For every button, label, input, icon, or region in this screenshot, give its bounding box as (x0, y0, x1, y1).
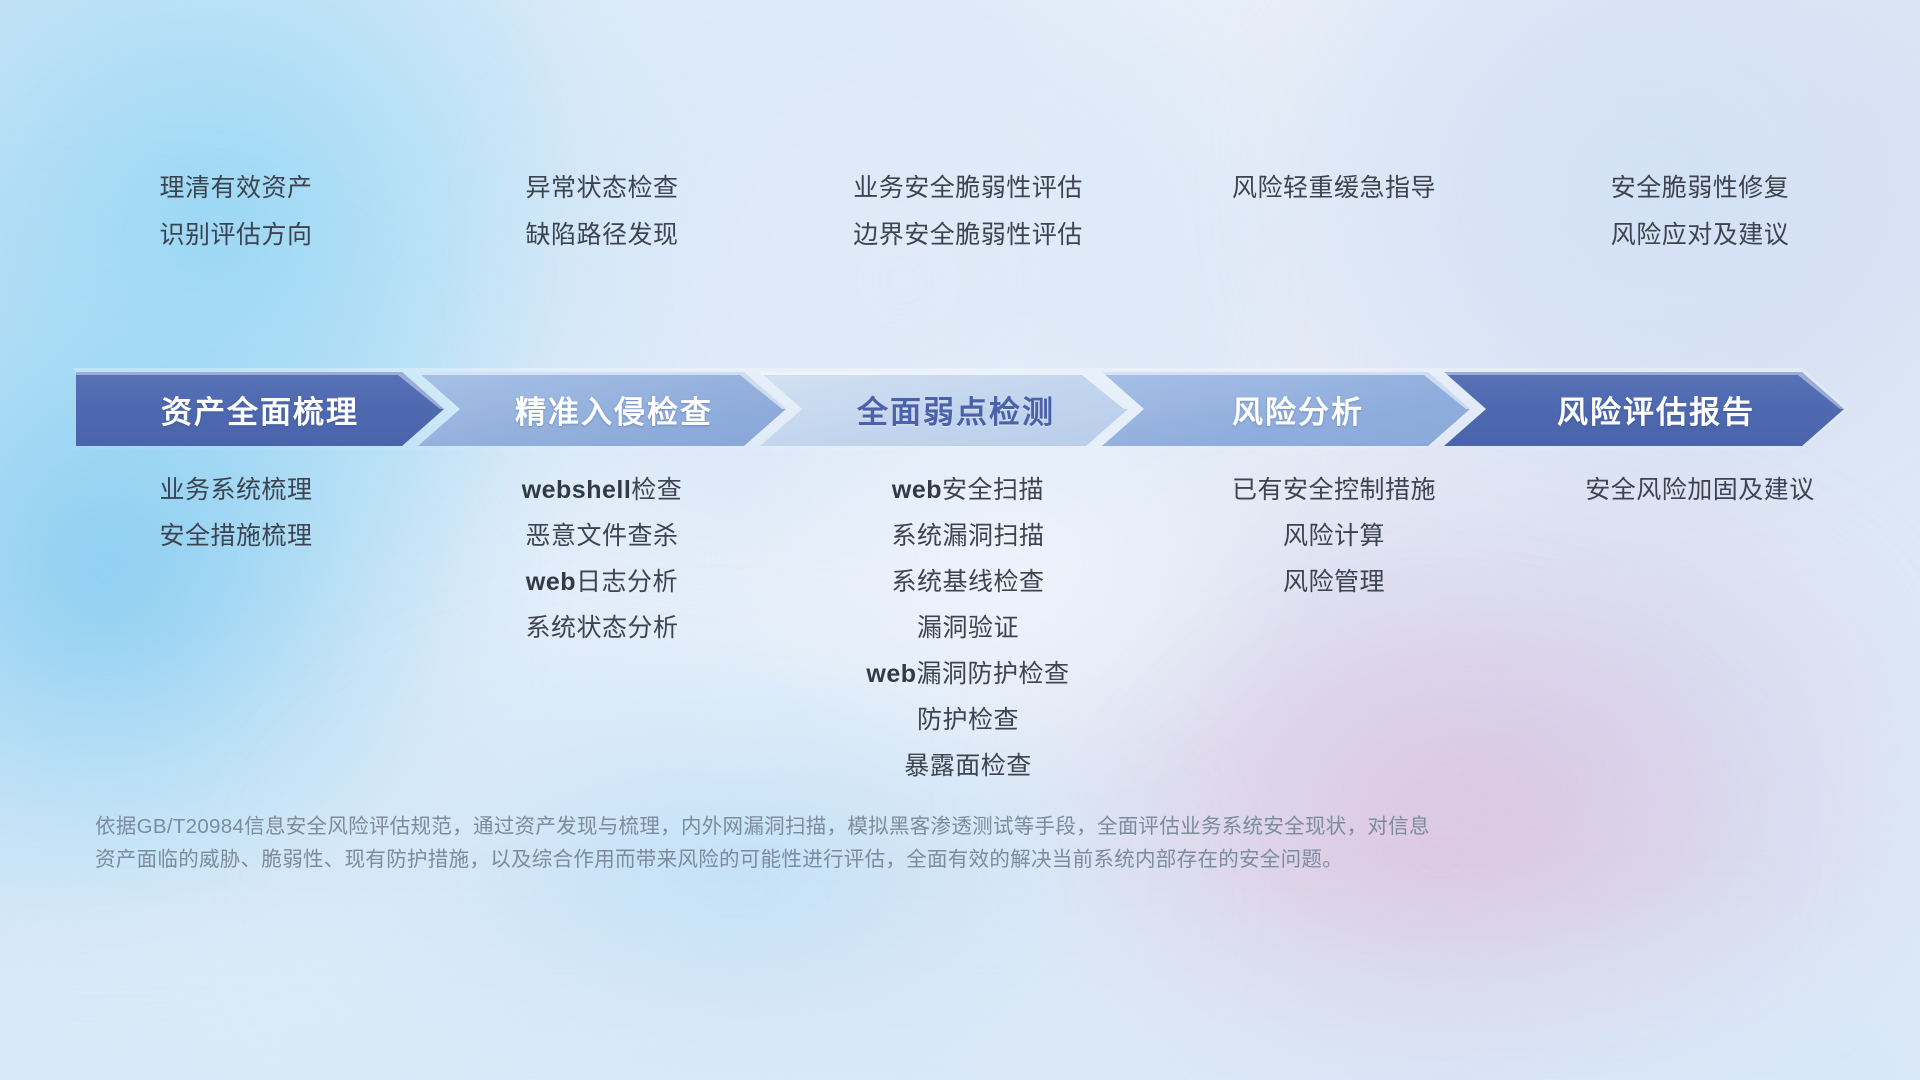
top-notes-row: 理清有效资产 识别评估方向 异常状态检查 缺陷路径发现 业务安全脆弱性评估 边界… (88, 176, 1848, 248)
top-note: 业务安全脆弱性评估 (820, 176, 1116, 201)
top-note: 风险轻重缓急指导 (1186, 176, 1482, 201)
bottom-list-col-2: webshell检查 恶意文件查杀 web日志分析 系统状态分析 (454, 478, 750, 779)
list-item: 风险计算 (1186, 524, 1482, 549)
top-note: 识别评估方向 (88, 223, 384, 248)
bottom-lists-row: 业务系统梳理 安全措施梳理 webshell检查 恶意文件查杀 web日志分析 … (88, 478, 1848, 779)
chevron-3 (760, 372, 1128, 446)
list-item: web安全扫描 (820, 478, 1116, 503)
bottom-list-col-3: web安全扫描 系统漏洞扫描 系统基线检查 漏洞验证 web漏洞防护检查 防护检… (820, 478, 1116, 779)
top-note: 理清有效资产 (88, 176, 384, 201)
list-item: web漏洞防护检查 (820, 662, 1116, 687)
footer-line-2: 资产面临的威胁、脆弱性、现有防护措施，以及综合作用而带来风险的可能性进行评估，全… (95, 843, 1525, 876)
process-chevron-band: 资产全面梳理 精准入侵检查 全面弱点检测 风险分析 风险评估报告 (72, 368, 1848, 450)
bottom-list-col-5: 安全风险加固及建议 (1552, 478, 1848, 779)
footer-line-1: 依据GB/T20984信息安全风险评估规范，通过资产发现与梳理，内外网漏洞扫描，… (95, 810, 1525, 843)
list-item-keyword: webshell (522, 476, 632, 504)
slide-stage: 理清有效资产 识别评估方向 异常状态检查 缺陷路径发现 业务安全脆弱性评估 边界… (0, 0, 1920, 1080)
top-notes-col-3: 业务安全脆弱性评估 边界安全脆弱性评估 (820, 176, 1116, 248)
top-notes-col-1: 理清有效资产 识别评估方向 (88, 176, 384, 248)
list-item: 安全风险加固及建议 (1552, 478, 1848, 503)
list-item: webshell检查 (454, 478, 750, 503)
top-note: 异常状态检查 (454, 176, 750, 201)
list-item: web日志分析 (454, 570, 750, 595)
bottom-list-col-1: 业务系统梳理 安全措施梳理 (88, 478, 384, 779)
chevron-shapes (72, 368, 1848, 450)
top-notes-col-5: 安全脆弱性修复 风险应对及建议 (1552, 176, 1848, 248)
chevron-2 (418, 372, 786, 446)
bottom-list-col-4: 已有安全控制措施 风险计算 风险管理 (1186, 478, 1482, 779)
list-item: 业务系统梳理 (88, 478, 384, 503)
top-notes-col-2: 异常状态检查 缺陷路径发现 (454, 176, 750, 248)
top-notes-col-4: 风险轻重缓急指导 (1186, 176, 1482, 248)
chevron-1 (76, 372, 444, 446)
list-item-keyword: web (892, 476, 942, 504)
list-item: 系统状态分析 (454, 616, 750, 641)
list-item: 系统漏洞扫描 (820, 524, 1116, 549)
top-note: 风险应对及建议 (1552, 223, 1848, 248)
chevron-5 (1444, 372, 1844, 446)
list-item: 已有安全控制措施 (1186, 478, 1482, 503)
top-note: 缺陷路径发现 (454, 223, 750, 248)
list-item: 漏洞验证 (820, 616, 1116, 641)
list-item: 恶意文件查杀 (454, 524, 750, 549)
list-item: 安全措施梳理 (88, 524, 384, 549)
list-item: 风险管理 (1186, 570, 1482, 595)
list-item-keyword: web (866, 660, 916, 688)
chevron-4 (1102, 372, 1470, 446)
footer-description: 依据GB/T20984信息安全风险评估规范，通过资产发现与梳理，内外网漏洞扫描，… (95, 810, 1525, 876)
list-item: 系统基线检查 (820, 570, 1116, 595)
list-item: 防护检查 (820, 708, 1116, 733)
top-note: 安全脆弱性修复 (1552, 176, 1848, 201)
top-note: 边界安全脆弱性评估 (820, 223, 1116, 248)
list-item: 暴露面检查 (820, 754, 1116, 779)
list-item-keyword: web (526, 568, 576, 596)
